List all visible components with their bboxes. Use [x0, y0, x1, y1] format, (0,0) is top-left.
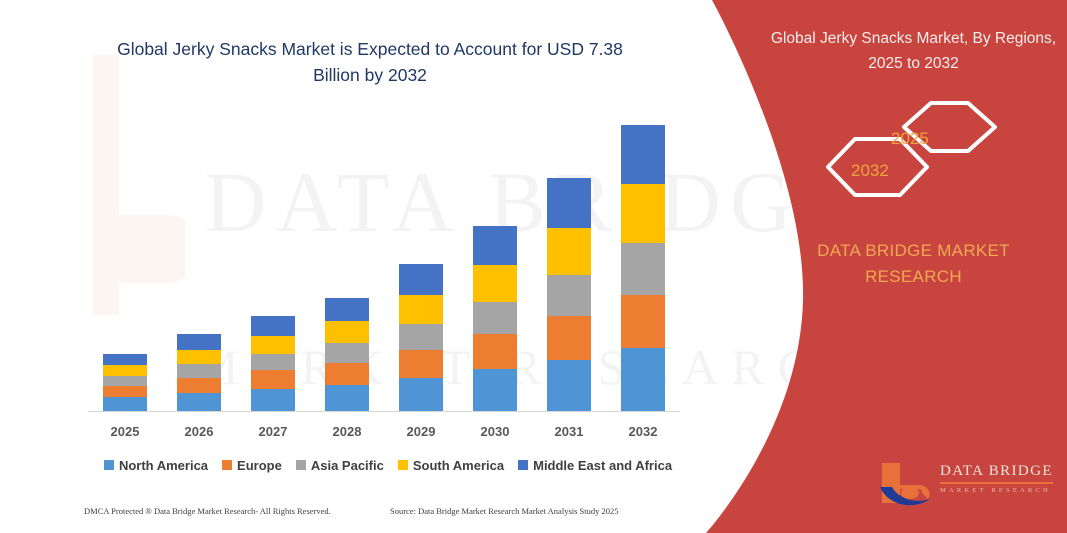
x-axis-line	[88, 411, 680, 412]
stacked-bar[interactable]	[621, 125, 665, 412]
bar-segment-north-america[interactable]	[621, 348, 665, 412]
bar-segment-south-america[interactable]	[103, 365, 147, 375]
data-bridge-logo: DATA BRIDGE MARKET RESEARCH	[878, 455, 1058, 515]
right-panel-content: Global Jerky Snacks Market, By Regions, …	[760, 0, 1067, 533]
bar-segment-asia-pacific[interactable]	[325, 343, 369, 363]
bar-segment-asia-pacific[interactable]	[399, 324, 443, 350]
legend-item-asia-pacific[interactable]: Asia Pacific	[296, 458, 384, 473]
footer-dmca-text: DMCA Protected ® Data Bridge Market Rese…	[60, 506, 390, 522]
hexagon-label-2032: 2032	[851, 161, 889, 181]
x-axis-label-2029: 2029	[391, 424, 451, 439]
bar-segment-south-america[interactable]	[473, 265, 517, 301]
bar-segment-south-america[interactable]	[325, 321, 369, 343]
bar-segment-europe[interactable]	[177, 378, 221, 394]
bar-segment-asia-pacific[interactable]	[547, 275, 591, 317]
bar-segment-middle-east-and-africa[interactable]	[103, 354, 147, 365]
footer: DMCA Protected ® Data Bridge Market Rese…	[60, 506, 700, 522]
bar-segment-europe[interactable]	[325, 363, 369, 385]
chart-legend: North AmericaEuropeAsia PacificSouth Ame…	[88, 455, 688, 475]
legend-swatch-icon	[398, 460, 408, 470]
hexagon-label-2025: 2025	[891, 129, 929, 149]
legend-label: Europe	[237, 458, 282, 473]
bar-segment-europe[interactable]	[103, 386, 147, 397]
bar-segment-middle-east-and-africa[interactable]	[473, 226, 517, 266]
legend-label: North America	[119, 458, 208, 473]
x-axis-labels: 20252026202720282029203020312032	[88, 424, 680, 442]
bar-segment-north-america[interactable]	[103, 397, 147, 412]
logo-name-text: DATA BRIDGE	[940, 463, 1053, 480]
bar-segment-asia-pacific[interactable]	[473, 302, 517, 334]
stacked-bar[interactable]	[251, 316, 295, 412]
bar-segment-north-america[interactable]	[325, 385, 369, 412]
stacked-bar[interactable]	[473, 226, 517, 412]
legend-item-middle-east-and-africa[interactable]: Middle East and Africa	[518, 458, 672, 473]
bar-segment-europe[interactable]	[547, 316, 591, 360]
bar-segment-north-america[interactable]	[473, 369, 517, 412]
legend-swatch-icon	[296, 460, 306, 470]
footer-source-text: Source: Data Bridge Market Research Mark…	[390, 506, 700, 522]
legend-swatch-icon	[104, 460, 114, 470]
bar-segment-middle-east-and-africa[interactable]	[547, 178, 591, 228]
stacked-bar[interactable]	[325, 298, 369, 413]
bar-chart	[88, 110, 680, 412]
stacked-bar[interactable]	[177, 334, 221, 412]
bar-segment-middle-east-and-africa[interactable]	[325, 298, 369, 322]
right-panel-title: Global Jerky Snacks Market, By Regions, …	[770, 26, 1057, 76]
bar-segment-asia-pacific[interactable]	[103, 376, 147, 386]
x-axis-label-2028: 2028	[317, 424, 377, 439]
legend-swatch-icon	[222, 460, 232, 470]
bar-segment-north-america[interactable]	[177, 393, 221, 412]
bar-segment-europe[interactable]	[399, 350, 443, 378]
x-axis-label-2027: 2027	[243, 424, 303, 439]
x-axis-label-2031: 2031	[539, 424, 599, 439]
legend-label: Middle East and Africa	[533, 458, 672, 473]
stacked-bar[interactable]	[547, 178, 591, 412]
bar-segment-middle-east-and-africa[interactable]	[621, 125, 665, 184]
legend-swatch-icon	[518, 460, 528, 470]
bar-segment-asia-pacific[interactable]	[177, 364, 221, 378]
brand-name-text: DATA BRIDGE MARKET RESEARCH	[774, 238, 1053, 290]
legend-item-south-america[interactable]: South America	[398, 458, 504, 473]
legend-item-north-america[interactable]: North America	[104, 458, 208, 473]
legend-item-europe[interactable]: Europe	[222, 458, 282, 473]
bar-segment-south-america[interactable]	[399, 295, 443, 323]
logo-mark-icon	[878, 459, 938, 511]
plot-area	[88, 110, 680, 412]
bar-segment-europe[interactable]	[473, 334, 517, 369]
bar-segment-north-america[interactable]	[251, 389, 295, 412]
bar-segment-asia-pacific[interactable]	[621, 243, 665, 295]
chart-panel: DATA BRIDGE MARKET RESEARCH Global Jerky…	[0, 0, 720, 533]
x-axis-label-2032: 2032	[613, 424, 673, 439]
bar-segment-south-america[interactable]	[621, 184, 665, 243]
bar-segment-middle-east-and-africa[interactable]	[399, 264, 443, 295]
bar-segment-south-america[interactable]	[251, 336, 295, 354]
stacked-bar[interactable]	[103, 354, 147, 412]
bar-segment-north-america[interactable]	[399, 378, 443, 412]
hexagon-pair	[800, 95, 1030, 210]
bar-segment-north-america[interactable]	[547, 360, 591, 412]
bar-segment-europe[interactable]	[621, 295, 665, 348]
x-axis-label-2025: 2025	[95, 424, 155, 439]
bar-segment-south-america[interactable]	[177, 350, 221, 365]
x-axis-label-2026: 2026	[169, 424, 229, 439]
stacked-bar[interactable]	[399, 264, 443, 412]
bar-segment-asia-pacific[interactable]	[251, 354, 295, 371]
x-axis-label-2030: 2030	[465, 424, 525, 439]
bar-segment-south-america[interactable]	[547, 228, 591, 275]
bar-segment-europe[interactable]	[251, 370, 295, 389]
legend-label: Asia Pacific	[311, 458, 384, 473]
logo-divider	[940, 482, 1053, 484]
logo-subtitle-text: MARKET RESEARCH	[940, 487, 1053, 494]
page-title: Global Jerky Snacks Market is Expected t…	[110, 36, 630, 88]
bar-segment-middle-east-and-africa[interactable]	[251, 316, 295, 336]
legend-label: South America	[413, 458, 504, 473]
bar-segment-middle-east-and-africa[interactable]	[177, 334, 221, 350]
